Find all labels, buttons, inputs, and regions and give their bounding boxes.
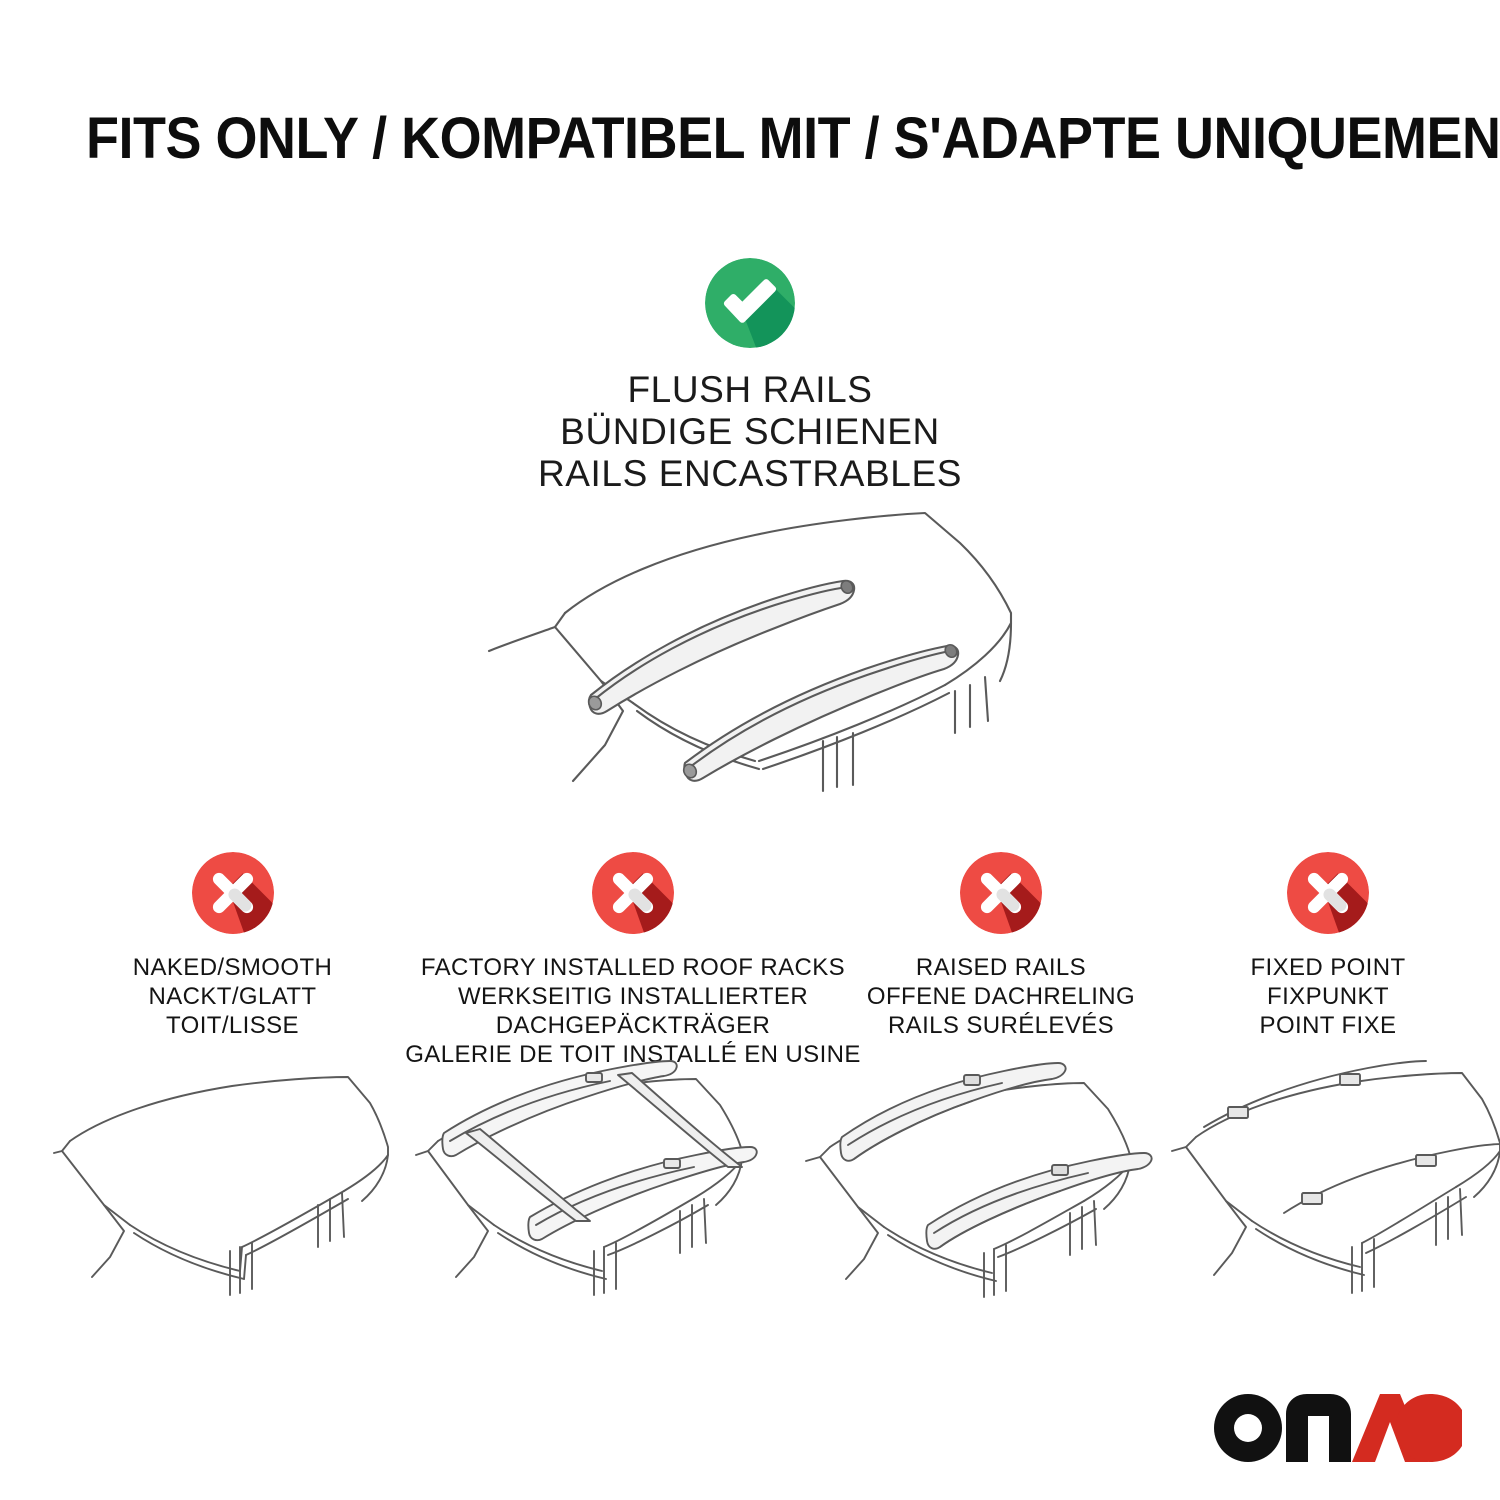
car-roof-with-flush-rails-illustration [455,495,1055,795]
rejected-1-line-fr: TOIT/LISSE [35,1011,430,1040]
cross-circle-icon [192,852,274,934]
rejected-option-factory-roof-racks: FACTORY INSTALLED ROOF RACKS WERKSEITIG … [393,852,873,1069]
approved-line-fr: RAILS ENCASTRABLES [380,453,1120,495]
cross-circle-icon [1287,852,1369,934]
check-circle-icon [705,258,795,348]
page-title: FITS ONLY / KOMPATIBEL MIT / S'ADAPTE UN… [86,104,1332,174]
car-roof-raised-rails-illustration [796,1055,1176,1310]
cross-circle-icon [592,852,674,934]
approved-caption: FLUSH RAILS BÜNDIGE SCHIENEN RAILS ENCAS… [380,369,1120,495]
rejected-2-line-de-2: DACHGEPÄCKTRÄGER [393,1011,873,1040]
cross-circle-icon [960,852,1042,934]
omac-logo [1212,1392,1462,1464]
rejected-option-raised-rails: RAISED RAILS OFFENE DACHRELING RAILS SUR… [836,852,1166,1040]
rejected-3-line-fr: RAILS SURÉLEVÉS [836,1011,1166,1040]
car-roof-fixed-point-illustration [1168,1055,1500,1310]
rejected-caption-3: RAISED RAILS OFFENE DACHRELING RAILS SUR… [836,953,1166,1040]
rejected-caption-2: FACTORY INSTALLED ROOF RACKS WERKSEITIG … [393,953,873,1069]
rejected-1-line-en: NAKED/SMOOTH [35,953,430,982]
rejected-3-line-en: RAISED RAILS [836,953,1166,982]
rejected-3-line-de: OFFENE DACHRELING [836,982,1166,1011]
rejected-2-line-en: FACTORY INSTALLED ROOF RACKS [393,953,873,982]
rejected-4-line-fr: POINT FIXE [1168,1011,1488,1040]
approved-line-de: BÜNDIGE SCHIENEN [380,411,1120,453]
rejected-4-line-en: FIXED POINT [1168,953,1488,982]
rejected-option-naked-smooth: NAKED/SMOOTH NACKT/GLATT TOIT/LISSE [35,852,430,1040]
rejected-1-line-de: NACKT/GLATT [35,982,430,1011]
rejected-caption-1: NAKED/SMOOTH NACKT/GLATT TOIT/LISSE [35,953,430,1040]
rejected-2-line-de-1: WERKSEITIG INSTALLIERTER [393,982,873,1011]
car-roof-naked-smooth-illustration [52,1055,422,1310]
compatibility-infographic: FITS ONLY / KOMPATIBEL MIT / S'ADAPTE UN… [0,0,1500,1500]
approved-fitment-block: FLUSH RAILS BÜNDIGE SCHIENEN RAILS ENCAS… [380,258,1120,495]
approved-line-en: FLUSH RAILS [380,369,1120,411]
rejected-4-line-de: FIXPUNKT [1168,982,1488,1011]
rejected-caption-4: FIXED POINT FIXPUNKT POINT FIXE [1168,953,1488,1040]
rejected-option-fixed-point: FIXED POINT FIXPUNKT POINT FIXE [1168,852,1488,1040]
car-roof-factory-installed-roof-racks-illustration [408,1055,788,1310]
